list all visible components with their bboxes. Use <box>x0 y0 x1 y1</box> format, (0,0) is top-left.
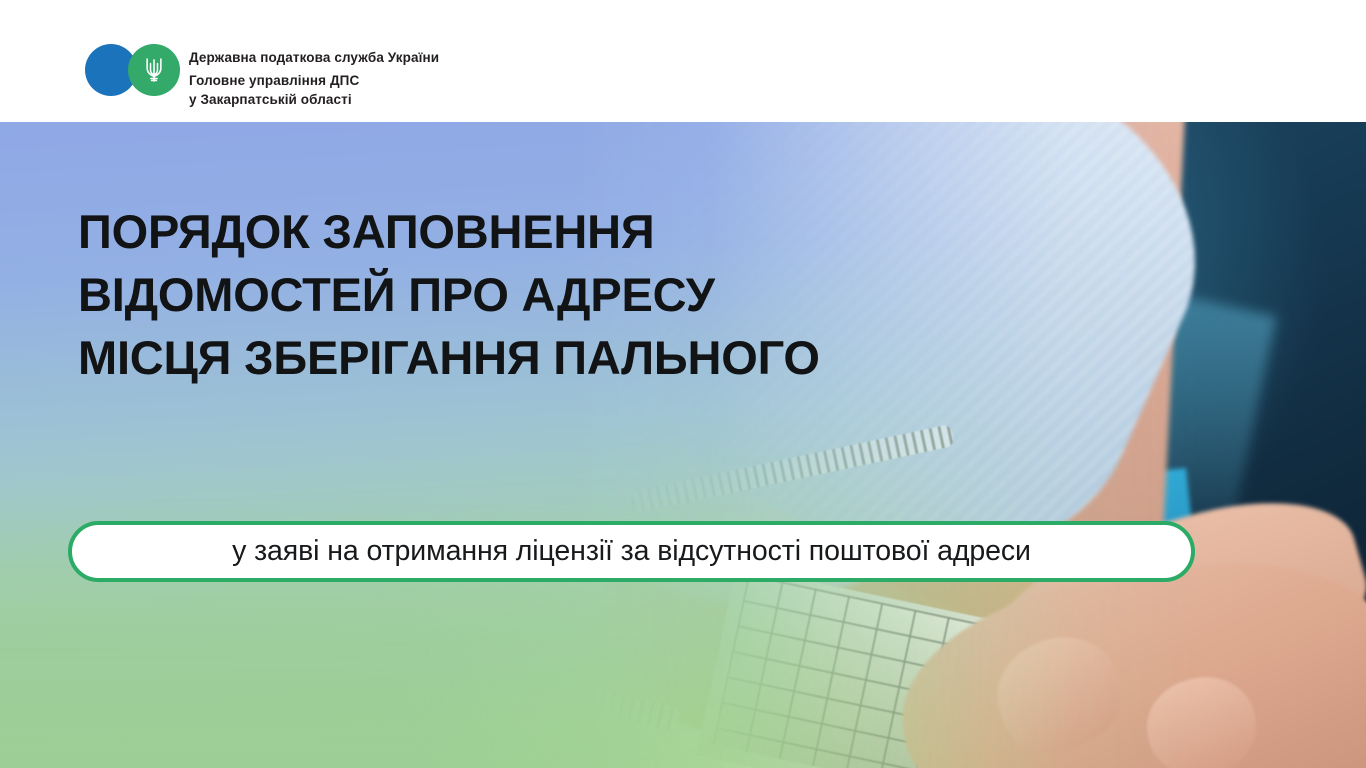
page-title-line-3: МІСЦЯ ЗБЕРІГАННЯ ПАЛЬНОГО <box>78 326 820 389</box>
page-title-line-1: ПОРЯДОК ЗАПОВНЕННЯ <box>78 200 820 263</box>
ukraine-trident-icon <box>143 56 165 84</box>
agency-name: Державна податкова служба України Головн… <box>189 48 439 109</box>
subtitle-text: у заяві на отримання ліцензії за відсутн… <box>232 535 1031 568</box>
subtitle-pill: у заяві на отримання ліцензії за відсутн… <box>68 521 1195 582</box>
green-circle-icon <box>128 44 180 96</box>
agency-name-line-3: у Закарпатській області <box>189 90 439 109</box>
page-title-line-2: ВІДОМОСТЕЙ ПРО АДРЕСУ <box>78 263 820 326</box>
agency-logo <box>85 44 180 96</box>
banner-page: Державна податкова служба України Головн… <box>0 0 1366 768</box>
agency-name-line-2: Головне управління ДПС <box>189 71 439 90</box>
site-header: Державна податкова служба України Головн… <box>0 0 1366 122</box>
agency-name-line-1: Державна податкова служба України <box>189 48 439 67</box>
page-title: ПОРЯДОК ЗАПОВНЕННЯ ВІДОМОСТЕЙ ПРО АДРЕСУ… <box>78 200 820 389</box>
